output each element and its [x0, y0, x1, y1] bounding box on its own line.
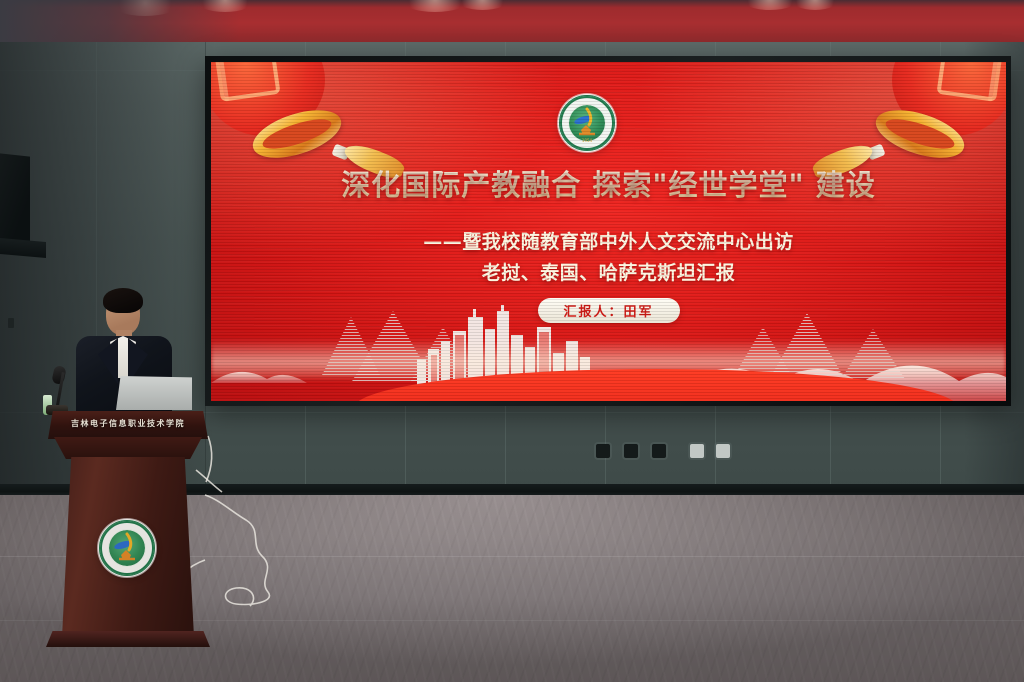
svg-text:1954: 1954	[582, 138, 593, 143]
screenshot-scene: 1954 深化国际产教融合 探索"经世学堂" 建设 ——暨我校随教育部中外人文交…	[0, 0, 1024, 682]
ceiling-band	[0, 0, 1024, 42]
wall-socket-5[interactable]	[716, 444, 730, 458]
presentation-title: 深化国际产教融合 探索"经世学堂" 建设	[211, 162, 1006, 204]
wall-socket-4[interactable]	[690, 444, 704, 458]
laptop-icon[interactable]	[116, 376, 192, 410]
wall-socket-2[interactable]	[624, 444, 638, 458]
led-display-wall[interactable]: 1954 深化国际产教融合 探索"经世学堂" 建设 ——暨我校随教育部中外人文交…	[211, 62, 1006, 401]
wall-mounted-speaker-icon	[0, 153, 30, 248]
lectern-body	[62, 457, 194, 637]
presentation-subtitle-line2: 老挝、泰国、哈萨克斯坦汇报	[211, 258, 1006, 285]
wall-socket-1[interactable]	[596, 444, 610, 458]
presentation-subtitle-line1: ——暨我校随教育部中外人文交流中心出访	[211, 227, 1006, 254]
school-emblem-icon: 1954	[558, 94, 616, 152]
wall-socket-3[interactable]	[652, 444, 666, 458]
screen-bottom-graphic	[211, 305, 1006, 401]
lectern-school-emblem-icon	[98, 519, 156, 577]
lectern-base	[46, 631, 210, 647]
lectern-sign: 吉林电子信息职业技术学院	[48, 418, 208, 429]
lectern-neck	[54, 437, 202, 459]
presenter-hair	[103, 288, 143, 313]
